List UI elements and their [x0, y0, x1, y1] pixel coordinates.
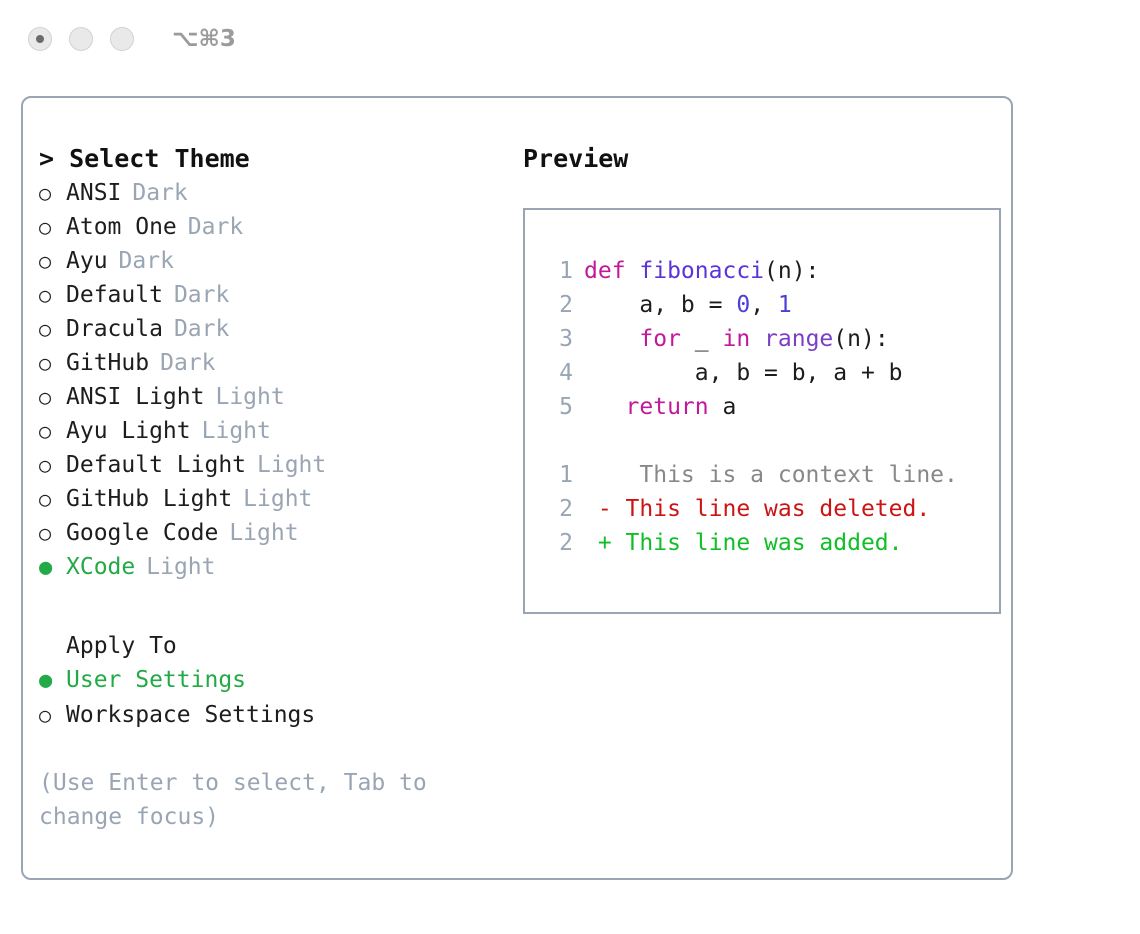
- theme-option-ansi-light[interactable]: ○ANSI LightLight: [39, 380, 501, 414]
- apply-to-option-label: User Settings: [66, 663, 246, 697]
- window-dot-third[interactable]: [110, 27, 134, 51]
- radio-unselected-icon: ○: [39, 176, 66, 210]
- apply-to-option-label: Workspace Settings: [66, 698, 315, 732]
- theme-option-variant-tag: Dark: [174, 278, 229, 312]
- diff-line: 2 - This line was deleted.: [539, 492, 999, 526]
- section-spacer: [39, 585, 501, 629]
- window-dot-second[interactable]: [69, 27, 93, 51]
- code-token-pl: [584, 326, 639, 352]
- diff-line-number: 2: [539, 526, 573, 560]
- radio-unselected-icon: ○: [39, 414, 66, 448]
- code-line: 3 for _ in range(n):: [539, 322, 999, 356]
- code-line-text: def fibonacci(n):: [584, 254, 819, 288]
- code-token-num: 0: [736, 292, 750, 318]
- theme-option-dracula[interactable]: ○DraculaDark: [39, 312, 501, 346]
- theme-option-xcode[interactable]: ●XCodeLight: [39, 550, 501, 585]
- preview-box: 1def fibonacci(n):2 a, b = 0, 13 for _ i…: [523, 208, 1001, 614]
- code-line-text: return a: [584, 390, 736, 424]
- theme-option-variant-tag: Light: [243, 482, 312, 516]
- apply-to-list: ●User Settings○Workspace Settings: [39, 663, 501, 732]
- code-line: 2 a, b = 0, 1: [539, 288, 999, 322]
- apply-to-header-marker: ○: [39, 629, 66, 663]
- theme-option-label: Default: [66, 278, 163, 312]
- code-line-text: a, b = b, a + b: [584, 356, 903, 390]
- theme-option-label: Atom One: [66, 210, 177, 244]
- theme-option-variant-tag: Light: [202, 414, 271, 448]
- code-line-number: 4: [539, 356, 573, 390]
- theme-option-label: ANSI: [66, 176, 121, 210]
- code-token-pl: a, b = b, a + b: [584, 360, 903, 386]
- radio-unselected-icon: ○: [39, 210, 66, 244]
- code-token-kw: return: [626, 394, 709, 420]
- window-controls: [28, 27, 134, 51]
- theme-selection-column: > Select Theme ○ANSIDark○Atom OneDark○Ay…: [39, 142, 501, 878]
- theme-list: ○ANSIDark○Atom OneDark○AyuDark○DefaultDa…: [39, 176, 501, 585]
- theme-option-github-light[interactable]: ○GitHub LightLight: [39, 482, 501, 516]
- theme-option-variant-tag: Dark: [188, 210, 243, 244]
- apply-to-option-user-settings[interactable]: ●User Settings: [39, 663, 501, 698]
- theme-option-label: GitHub Light: [66, 482, 232, 516]
- code-token-fn: fibonacci: [639, 258, 764, 284]
- code-token-num: 1: [778, 292, 792, 318]
- radio-selected-icon: ●: [39, 664, 66, 698]
- preview-column: Preview 1def fibonacci(n):2 a, b = 0, 13…: [501, 142, 1011, 878]
- radio-unselected-icon: ○: [39, 482, 66, 516]
- code-line-number: 1: [539, 254, 573, 288]
- app-window: ⌥⌘3 > Select Theme ○ANSIDark○Atom OneDar…: [0, 0, 1140, 934]
- keyboard-hint-text: (Use Enter to select, Tab to change focu…: [39, 766, 459, 834]
- code-line-number: 3: [539, 322, 573, 356]
- apply-to-header-label: Apply To: [66, 629, 177, 663]
- code-line-text: for _ in range(n):: [584, 322, 889, 356]
- code-token-kw: def: [584, 258, 639, 284]
- theme-option-variant-tag: Dark: [132, 176, 187, 210]
- radio-unselected-icon: ○: [39, 244, 66, 278]
- window-dot-active[interactable]: [28, 27, 52, 51]
- theme-option-variant-tag: Light: [215, 380, 284, 414]
- radio-unselected-icon: ○: [39, 698, 66, 732]
- theme-option-ayu[interactable]: ○AyuDark: [39, 244, 501, 278]
- select-theme-header: > Select Theme: [39, 142, 501, 176]
- code-line-number: 5: [539, 390, 573, 424]
- diff-line-text-del: - This line was deleted.: [584, 492, 930, 526]
- radio-selected-icon: ●: [39, 551, 66, 585]
- radio-unselected-icon: ○: [39, 278, 66, 312]
- code-sample: 1def fibonacci(n):2 a, b = 0, 13 for _ i…: [539, 254, 999, 424]
- title-bar: ⌥⌘3: [0, 0, 1140, 78]
- theme-option-ayu-light[interactable]: ○Ayu LightLight: [39, 414, 501, 448]
- radio-unselected-icon: ○: [39, 448, 66, 482]
- theme-option-label: Ayu Light: [66, 414, 191, 448]
- theme-option-variant-tag: Light: [257, 448, 326, 482]
- theme-option-github[interactable]: ○GitHubDark: [39, 346, 501, 380]
- diff-line-number: 1: [539, 458, 573, 492]
- apply-to-option-workspace-settings[interactable]: ○Workspace Settings: [39, 698, 501, 732]
- theme-option-google-code[interactable]: ○Google CodeLight: [39, 516, 501, 550]
- theme-option-label: Google Code: [66, 516, 218, 550]
- diff-line: 1 This is a context line.: [539, 458, 999, 492]
- radio-unselected-icon: ○: [39, 346, 66, 380]
- theme-option-variant-tag: Dark: [174, 312, 229, 346]
- radio-unselected-icon: ○: [39, 312, 66, 346]
- code-token-kw: in: [722, 326, 750, 352]
- theme-option-variant-tag: Dark: [119, 244, 174, 278]
- code-token-kw: for: [639, 326, 681, 352]
- code-line: 4 a, b = b, a + b: [539, 356, 999, 390]
- diff-line: 2 + This line was added.: [539, 526, 999, 560]
- diff-sample: 1 This is a context line.2 - This line w…: [539, 458, 999, 560]
- theme-option-label: Default Light: [66, 448, 246, 482]
- code-token-pl: [584, 394, 626, 420]
- code-token-pl: (n):: [764, 258, 819, 284]
- theme-option-variant-tag: Dark: [160, 346, 215, 380]
- theme-option-label: Ayu: [66, 244, 108, 278]
- code-diff-spacer: [539, 424, 999, 458]
- theme-option-default-light[interactable]: ○Default LightLight: [39, 448, 501, 482]
- theme-option-atom-one[interactable]: ○Atom OneDark: [39, 210, 501, 244]
- code-line: 1def fibonacci(n):: [539, 254, 999, 288]
- diff-line-text-add: + This line was added.: [584, 526, 903, 560]
- preview-title: Preview: [523, 142, 1011, 176]
- theme-option-label: Dracula: [66, 312, 163, 346]
- theme-option-ansi[interactable]: ○ANSIDark: [39, 176, 501, 210]
- radio-unselected-icon: ○: [39, 380, 66, 414]
- theme-option-label: GitHub: [66, 346, 149, 380]
- theme-option-label: XCode: [66, 550, 135, 584]
- theme-option-variant-tag: Light: [146, 550, 215, 584]
- diff-line-text-ctx: This is a context line.: [584, 458, 958, 492]
- code-line-text: a, b = 0, 1: [584, 288, 792, 322]
- diff-line-number: 2: [539, 492, 573, 526]
- code-token-bi: range: [764, 326, 833, 352]
- theme-option-label: ANSI Light: [66, 380, 204, 414]
- code-line-number: 2: [539, 288, 573, 322]
- code-token-pl: a: [709, 394, 737, 420]
- theme-option-default[interactable]: ○DefaultDark: [39, 278, 501, 312]
- window-dot-active-indicator: [36, 35, 44, 43]
- keyboard-shortcut-label: ⌥⌘3: [172, 26, 236, 52]
- radio-unselected-icon: ○: [39, 516, 66, 550]
- code-token-pl: a, b =: [584, 292, 736, 318]
- code-token-pl: ,: [750, 292, 778, 318]
- code-token-pl: [750, 326, 764, 352]
- code-token-pl: _: [681, 326, 723, 352]
- code-line: 5 return a: [539, 390, 999, 424]
- code-token-pl: (n):: [833, 326, 888, 352]
- apply-to-header-row: ○ Apply To: [39, 629, 501, 663]
- theme-option-variant-tag: Light: [229, 516, 298, 550]
- main-window-frame: > Select Theme ○ANSIDark○Atom OneDark○Ay…: [21, 96, 1013, 880]
